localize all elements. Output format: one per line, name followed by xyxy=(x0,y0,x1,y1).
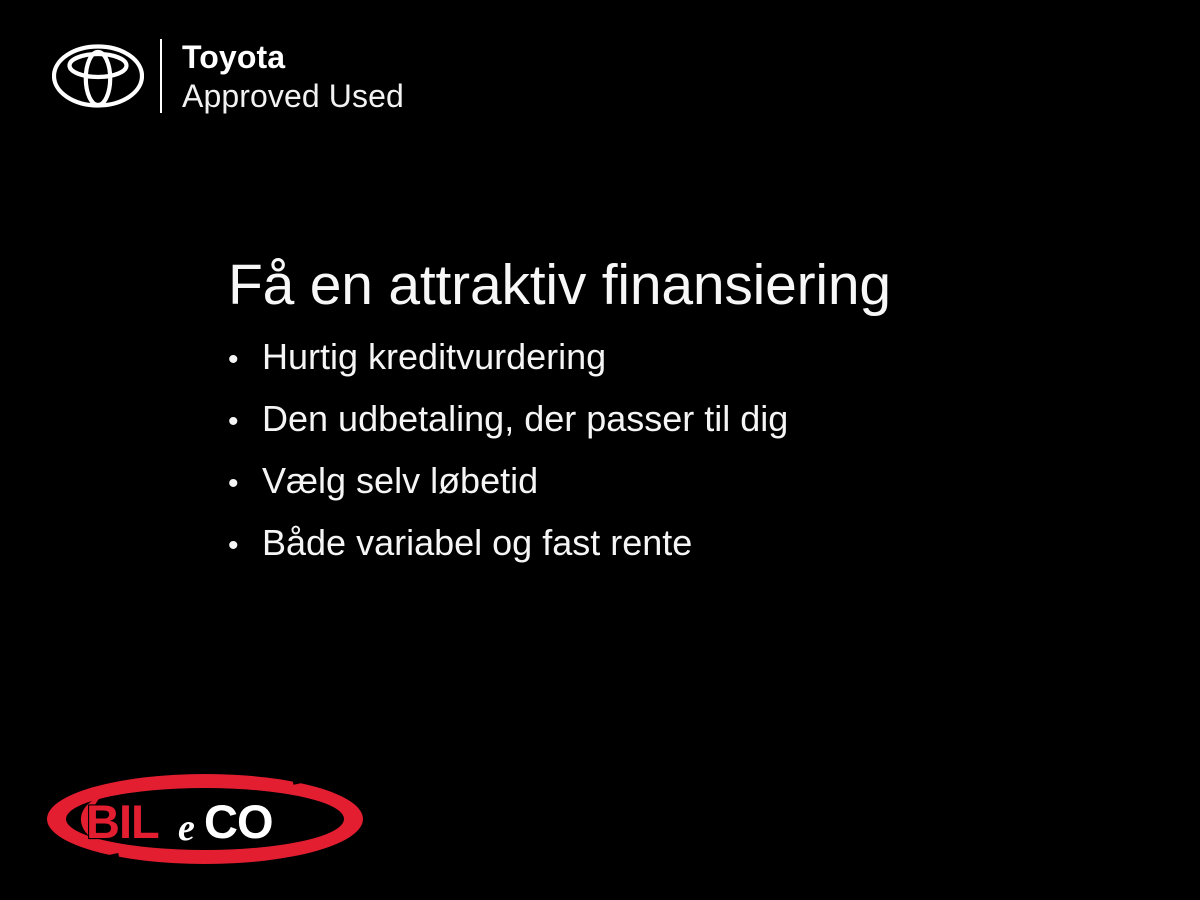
slide-root: Toyota Approved Used Få en attraktiv fin… xyxy=(0,0,1200,900)
toyota-brand-lockup: Toyota Approved Used xyxy=(52,33,404,119)
main-content: Få en attraktiv finansiering • Hurtig kr… xyxy=(228,255,1088,587)
list-item: • Hurtig kreditvurdering xyxy=(228,339,1088,401)
bullet-icon: • xyxy=(228,407,262,437)
list-item-label: Både variabel og fast rente xyxy=(262,525,692,561)
bullet-icon: • xyxy=(228,345,262,375)
brand-name-toyota: Toyota xyxy=(182,41,404,73)
list-item-label: Vælg selv løbetid xyxy=(262,463,538,499)
bullet-icon: • xyxy=(228,531,262,561)
list-item-label: Hurtig kreditvurdering xyxy=(262,339,606,375)
list-item: • Vælg selv løbetid xyxy=(228,463,1088,525)
brand-program-approved-used: Approved Used xyxy=(182,80,404,112)
list-item-label: Den udbetaling, der passer til dig xyxy=(262,401,788,437)
bileco-text-e: e xyxy=(178,807,195,849)
list-item: • Både variabel og fast rente xyxy=(228,525,1088,587)
dealer-logo-bileco: BIL e CO xyxy=(44,770,366,868)
bullet-icon: • xyxy=(228,469,262,499)
page-title: Få en attraktiv finansiering xyxy=(228,255,1088,317)
vertical-divider-icon xyxy=(160,39,162,113)
benefit-list: • Hurtig kreditvurdering • Den udbetalin… xyxy=(228,339,1088,587)
toyota-emblem-icon xyxy=(52,44,144,108)
list-item: • Den udbetaling, der passer til dig xyxy=(228,401,1088,463)
toyota-brand-words: Toyota Approved Used xyxy=(182,41,404,112)
bileco-text-co: CO xyxy=(204,795,273,848)
bileco-text-bil: BIL xyxy=(86,795,159,848)
